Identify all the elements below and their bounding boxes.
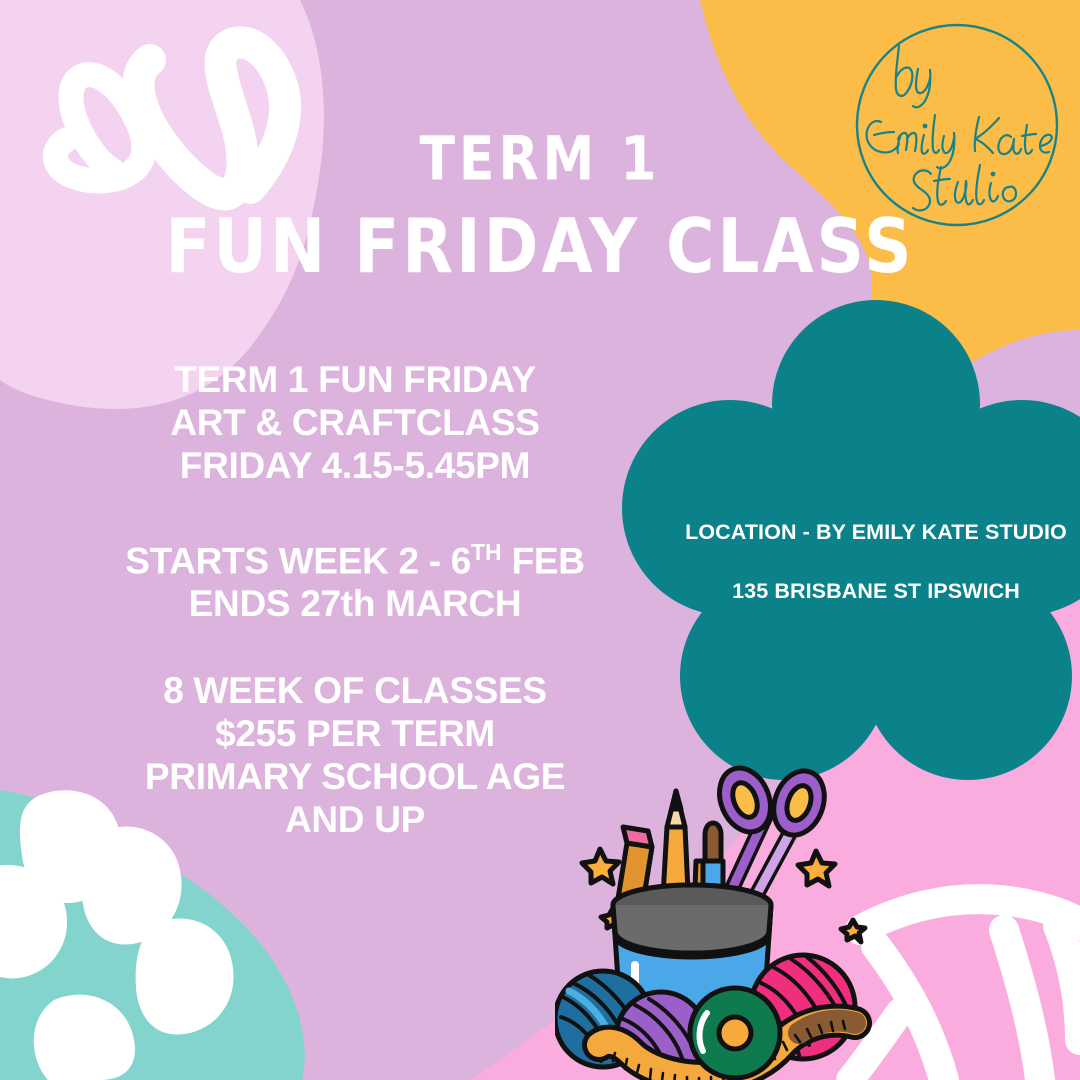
detail-starts-prefix: STARTS WEEK 2 - 6 bbox=[125, 540, 471, 581]
location-address: 135 BRISBANE ST IPSWICH bbox=[676, 579, 1076, 604]
detail-line-starts: STARTS WEEK 2 - 6TH FEB bbox=[60, 531, 650, 582]
star-4 bbox=[841, 920, 865, 942]
brand-logo bbox=[851, 19, 1063, 231]
details-paragraph-pricing: 8 WEEK OF CLASSES $255 PER TERM PRIMARY … bbox=[60, 669, 650, 841]
location-studio-name: LOCATION - BY EMILY KATE STUDIO bbox=[676, 520, 1076, 545]
detail-line-ends: ENDS 27th MARCH bbox=[60, 582, 650, 625]
details-paragraph-dates: STARTS WEEK 2 - 6TH FEB ENDS 27th MARCH bbox=[60, 531, 650, 625]
star-2 bbox=[798, 851, 835, 886]
detail-line-term: TERM 1 FUN FRIDAY bbox=[60, 358, 650, 401]
detail-line-weeks: 8 WEEK OF CLASSES bbox=[60, 669, 650, 712]
details-paragraph-schedule: TERM 1 FUN FRIDAY ART & CRAFTCLASS FRIDA… bbox=[60, 358, 650, 487]
detail-line-price: $255 PER TERM bbox=[60, 712, 650, 755]
detail-line-artcraft: ART & CRAFTCLASS bbox=[60, 401, 650, 444]
star-1 bbox=[582, 849, 619, 884]
logo-script-text bbox=[867, 46, 1052, 210]
purple-scissors bbox=[710, 765, 832, 905]
detail-starts-ordinal: TH bbox=[471, 539, 502, 565]
location-info: LOCATION - BY EMILY KATE STUDIO 135 BRIS… bbox=[676, 520, 1076, 604]
green-button bbox=[690, 988, 780, 1078]
poster-canvas: TERM 1 FUN FRIDAY CLASS TERM 1 FUN FRIDA… bbox=[0, 0, 1080, 1080]
detail-line-time: FRIDAY 4.15-5.45PM bbox=[60, 444, 650, 487]
class-details: TERM 1 FUN FRIDAY ART & CRAFTCLASS FRIDA… bbox=[60, 358, 650, 841]
detail-starts-suffix: FEB bbox=[502, 540, 585, 581]
detail-line-andup: AND UP bbox=[60, 798, 650, 841]
detail-line-age: PRIMARY SCHOOL AGE bbox=[60, 755, 650, 798]
